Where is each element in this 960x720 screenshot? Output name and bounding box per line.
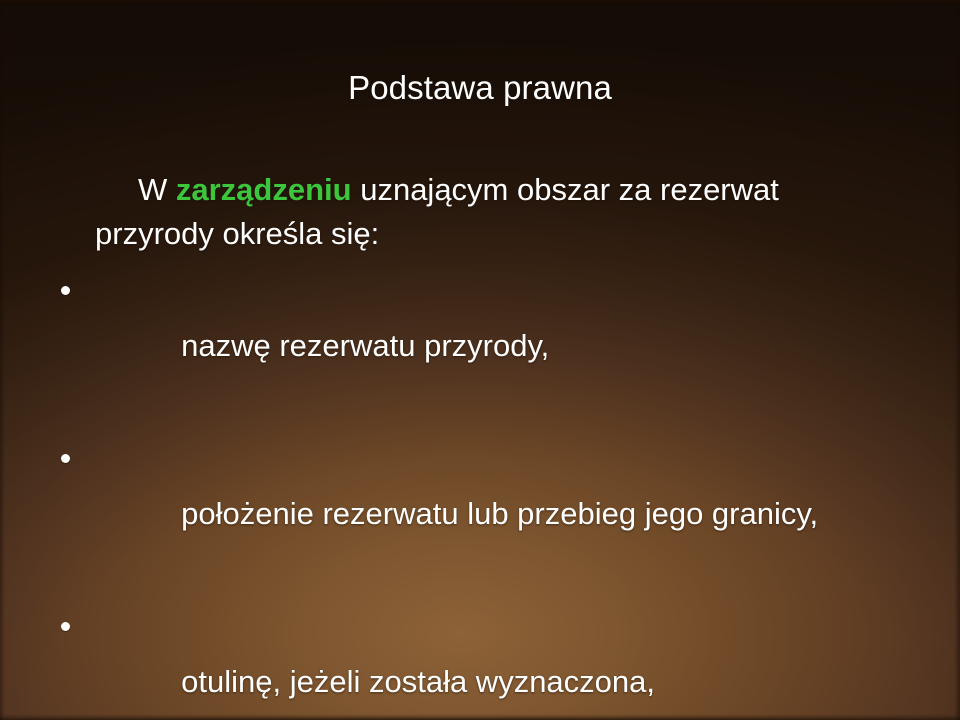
slide-title: Podstawa prawna bbox=[0, 68, 960, 108]
presentation-slide: Podstawa prawna W zarządzeniu uznającym … bbox=[0, 0, 960, 720]
intro-lead-text: W bbox=[138, 172, 176, 207]
list-item-label: otulinę, jeżeli została wyznaczona, bbox=[181, 664, 655, 699]
slide-content: Podstawa prawna W zarządzeniu uznającym … bbox=[0, 0, 960, 720]
intro-paragraph: W zarządzeniu uznającym obszar za rezerw… bbox=[95, 168, 895, 256]
list-item: nazwę rezerwatu przyrody, bbox=[52, 262, 922, 430]
list-item-label: nazwę rezerwatu przyrody, bbox=[181, 328, 549, 363]
bullet-list: nazwę rezerwatu przyrody, położenie reze… bbox=[52, 262, 922, 720]
bullet-dot-icon bbox=[61, 454, 70, 463]
list-item-label: położenie rezerwatu lub przebieg jego gr… bbox=[181, 496, 818, 531]
list-item: położenie rezerwatu lub przebieg jego gr… bbox=[52, 430, 922, 598]
bullet-dot-icon bbox=[61, 622, 70, 631]
intro-highlight-term: zarządzeniu bbox=[176, 172, 352, 207]
bullet-dot-icon bbox=[61, 286, 70, 295]
list-item: otulinę, jeżeli została wyznaczona, bbox=[52, 598, 922, 720]
slide-body: W zarządzeniu uznającym obszar za rezerw… bbox=[52, 168, 922, 720]
